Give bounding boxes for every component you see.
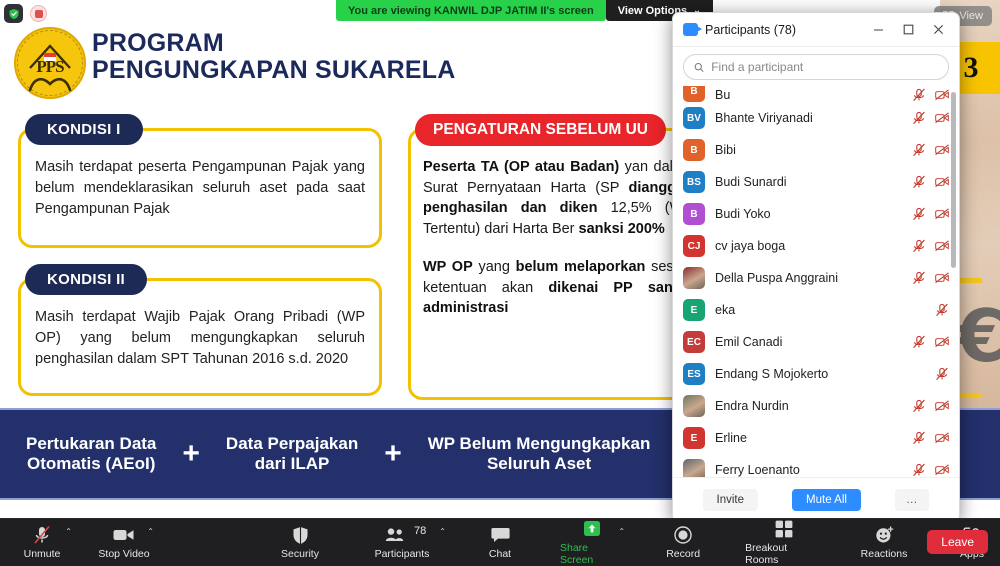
microphone-off-icon: [912, 463, 926, 477]
participants-window-title: Participants (78): [705, 23, 863, 37]
participant-status-icons: [912, 88, 949, 102]
pengaturan-text: Peserta TA (OP atau Badan) yan dalam Sur…: [411, 131, 705, 329]
search-box[interactable]: [683, 54, 949, 80]
band-item-3: WP Belum Mengungkapkan Seluruh Aset: [428, 434, 651, 475]
participant-row[interactable]: ECEmil Canadi: [673, 326, 959, 358]
participant-row[interactable]: BBudi Yoko: [673, 198, 959, 230]
avatar: BV: [683, 107, 705, 129]
participant-row[interactable]: Della Puspa Anggraini: [673, 262, 959, 294]
red-p1-f: sanksi 200%: [579, 221, 665, 237]
view-button-label: View: [959, 10, 983, 22]
shield-icon: [292, 525, 309, 545]
red-p2-a: WP OP: [423, 259, 473, 275]
band-item-3-line1: WP Belum Mengungkapkan: [428, 434, 651, 454]
participant-name: Erline: [715, 431, 902, 445]
participant-status-icons: [912, 111, 949, 125]
participant-name: Emil Canadi: [715, 335, 902, 349]
band-plus-2: +: [384, 437, 402, 471]
video-options-caret-icon[interactable]: ⌃: [147, 527, 154, 536]
red-p2-b: yang: [473, 259, 516, 275]
participant-status-icons: [935, 303, 949, 317]
pengaturan-paragraph-1: Peserta TA (OP atau Badan) yan dalam Sur…: [423, 157, 693, 239]
video-off-icon: [935, 88, 949, 102]
microphone-off-icon: [912, 399, 926, 413]
participant-status-icons: [912, 239, 949, 253]
logo-hands-icon: [28, 72, 72, 92]
avatar: BS: [683, 171, 705, 193]
record-icon: [674, 525, 692, 545]
participant-row[interactable]: BBu: [673, 86, 959, 102]
viewing-screen-label: You are viewing KANWIL DJP JATIM II's sc…: [336, 0, 606, 21]
search-icon: [694, 62, 704, 73]
video-off-icon: [935, 463, 949, 477]
encryption-shield-icon[interactable]: [4, 4, 23, 23]
participant-name: Endra Nurdin: [715, 399, 902, 413]
maximize-icon: [903, 24, 914, 35]
unmute-label: Unmute: [24, 548, 61, 560]
reactions-button[interactable]: Reactions: [856, 519, 912, 566]
stop-video-label: Stop Video: [98, 548, 149, 560]
microphone-off-icon: [912, 335, 926, 349]
share-screen-button[interactable]: Share Screen ⌃: [560, 519, 623, 566]
participant-name: eka: [715, 303, 925, 317]
microphone-off-icon: [912, 431, 926, 445]
share-screen-icon: [582, 519, 602, 539]
microphone-off-icon: [935, 367, 949, 381]
participant-row[interactable]: BSBudi Sunardi: [673, 166, 959, 198]
band-item-2-line2: dari ILAP: [226, 454, 358, 474]
microphone-off-icon: [912, 88, 926, 102]
red-p2-e: dikenai PP: [548, 280, 632, 296]
participant-row[interactable]: ESEndang S Mojokerto: [673, 358, 959, 390]
band-item-2: Data Perpajakan dari ILAP: [226, 434, 358, 475]
participant-name: Endang S Mojokerto: [715, 367, 925, 381]
kondisi-2-box: KONDISI II Masih terdapat Wajib Pajak Or…: [18, 278, 382, 396]
slide-title-line2: PENGUNGKAPAN SUKARELA: [92, 57, 455, 84]
participant-row[interactable]: CJcv jaya boga: [673, 230, 959, 262]
avatar: ES: [683, 363, 705, 385]
red-p1-a: Peserta TA (OP atau Badan): [423, 159, 619, 175]
video-off-icon: [935, 399, 949, 413]
avatar: E: [683, 427, 705, 449]
kondisi-1-tag: KONDISI I: [25, 114, 143, 145]
avatar: EC: [683, 331, 705, 353]
slide-title: PROGRAM PENGUNGKAPAN SUKARELA: [92, 30, 455, 84]
kondisi-1-text: Masih terdapat peserta Pengampunan Pajak…: [21, 131, 379, 232]
avatar: [683, 267, 705, 289]
participant-name: Ferry Loenanto: [715, 463, 902, 477]
microphone-off-icon: [912, 271, 926, 285]
microphone-off-icon: [33, 525, 51, 545]
minimize-button[interactable]: [863, 17, 893, 43]
invite-button[interactable]: Invite: [703, 489, 759, 511]
close-icon: [933, 24, 944, 35]
pengaturan-paragraph-2: WP OP yang belum melaporkan sesuai keten…: [423, 257, 693, 319]
participant-status-icons: [912, 463, 949, 477]
breakout-rooms-button[interactable]: Breakout Rooms: [745, 519, 822, 566]
reactions-label: Reactions: [861, 548, 908, 560]
share-options-caret-icon[interactable]: ⌃: [618, 527, 625, 536]
avatar: [683, 395, 705, 417]
more-options-button[interactable]: …: [895, 489, 930, 511]
microphone-off-icon: [912, 175, 926, 189]
breakout-rooms-icon: [775, 519, 793, 539]
avatar: B: [683, 139, 705, 161]
red-p1-b: yan: [619, 159, 648, 175]
zoom-meeting-window: € 3 PPS PROGRAM PENGUNGKAPAN SUKARELA KO…: [0, 0, 1000, 566]
participant-status-icons: [935, 367, 949, 381]
avatar: B: [683, 203, 705, 225]
participant-name: Budi Yoko: [715, 207, 902, 221]
video-off-icon: [935, 335, 949, 349]
red-p2-c: belum melaporkan: [516, 259, 646, 275]
participants-footer: Invite Mute All …: [673, 477, 959, 521]
participant-row[interactable]: BBibi: [673, 134, 959, 166]
kondisi-2-tag: KONDISI II: [25, 264, 147, 295]
participant-row[interactable]: Eeka: [673, 294, 959, 326]
microphone-off-icon: [935, 303, 949, 317]
avatar: [683, 459, 705, 477]
band-item-1: Pertukaran Data Otomatis (AEoI): [26, 434, 156, 475]
band-item-1-line2: Otomatis (AEoI): [26, 454, 156, 474]
participants-scrollbar[interactable]: [951, 92, 956, 268]
avatar: CJ: [683, 235, 705, 257]
screen-share-banner: You are viewing KANWIL DJP JATIM II's sc…: [336, 0, 713, 21]
maximize-button[interactable]: [893, 17, 923, 43]
microphone-off-icon: [912, 111, 926, 125]
participants-list[interactable]: BBuBVBhante ViriyanadiBBibiBSBudi Sunard…: [673, 86, 959, 477]
minimize-icon: [873, 24, 884, 35]
avatar: B: [683, 86, 705, 102]
chat-label: Chat: [489, 548, 511, 560]
reactions-icon: [875, 525, 894, 545]
band-item-3-line2: Seluruh Aset: [428, 454, 651, 474]
participant-status-icons: [912, 335, 949, 349]
participant-row[interactable]: EErline: [673, 422, 959, 454]
participant-name: Bibi: [715, 143, 902, 157]
microphone-off-icon: [912, 239, 926, 253]
participant-status-icons: [912, 431, 949, 445]
participant-status-icons: [912, 175, 949, 189]
participants-window: Participants (78) BBuBVBhante Viriyanadi: [672, 12, 960, 522]
breakout-rooms-label: Breakout Rooms: [745, 542, 822, 566]
band-item-2-line1: Data Perpajakan: [226, 434, 358, 454]
participant-name: Della Puspa Anggraini: [715, 271, 902, 285]
zoom-app-icon: [683, 23, 698, 36]
recording-indicator-icon[interactable]: [30, 5, 47, 22]
audio-options-caret-icon[interactable]: ⌃: [65, 527, 72, 536]
close-button[interactable]: [923, 17, 953, 43]
unmute-button[interactable]: Unmute ⌃: [14, 519, 70, 566]
chat-bubble-icon: [491, 525, 510, 545]
participants-count: 78: [414, 525, 426, 537]
pps-logo: PPS: [14, 27, 86, 99]
avatar: E: [683, 299, 705, 321]
participant-name: Bhante Viriyanadi: [715, 111, 902, 125]
video-off-icon: [935, 207, 949, 221]
zoom-toolbar: Unmute ⌃ Stop Video ⌃ Security: [0, 518, 1000, 566]
security-button[interactable]: Security: [272, 519, 328, 566]
leave-button[interactable]: Leave: [927, 530, 988, 554]
band-plus-1: +: [182, 437, 200, 471]
pengaturan-sebelum-uu-box: PENGATURAN SEBELUM UU Peserta TA (OP ata…: [408, 128, 708, 400]
participants-search-wrap: [673, 47, 959, 86]
microphone-off-icon: [912, 143, 926, 157]
participant-status-icons: [912, 143, 949, 157]
participant-row[interactable]: Endra Nurdin: [673, 390, 959, 422]
video-off-icon: [935, 175, 949, 189]
participant-row[interactable]: Ferry Loenanto: [673, 454, 959, 477]
participant-row[interactable]: BVBhante Viriyanadi: [673, 102, 959, 134]
participant-status-icons: [912, 399, 949, 413]
slide-title-line1: PROGRAM: [92, 29, 224, 57]
share-screen-label: Share Screen: [560, 542, 623, 566]
participant-status-icons: [912, 271, 949, 285]
participants-options-caret-icon[interactable]: ⌃: [439, 527, 446, 536]
participant-name: Bu: [715, 88, 902, 102]
participants-label: Participants: [375, 548, 430, 560]
security-label: Security: [281, 548, 319, 560]
video-off-icon: [935, 431, 949, 445]
participant-status-icons: [912, 207, 949, 221]
video-camera-icon: [113, 525, 135, 545]
kondisi-2-text: Masih terdapat Wajib Pajak Orang Pribadi…: [21, 281, 379, 382]
pengaturan-tag: PENGATURAN SEBELUM UU: [415, 114, 666, 146]
participant-name: cv jaya boga: [715, 239, 902, 253]
video-off-icon: [935, 271, 949, 285]
video-off-icon: [935, 239, 949, 253]
record-button[interactable]: Record: [655, 519, 711, 566]
participants-titlebar: Participants (78): [673, 13, 959, 47]
kondisi-1-box: KONDISI I Masih terdapat peserta Pengamp…: [18, 128, 382, 248]
microphone-off-icon: [912, 207, 926, 221]
participants-button[interactable]: Participants 78 ⌃: [374, 519, 430, 566]
chat-button[interactable]: Chat: [472, 519, 528, 566]
search-input[interactable]: [711, 60, 938, 74]
mute-all-button[interactable]: Mute All: [792, 489, 861, 511]
stop-video-button[interactable]: Stop Video ⌃: [96, 519, 152, 566]
band-item-1-line1: Pertukaran Data: [26, 434, 156, 454]
participant-name: Budi Sunardi: [715, 175, 902, 189]
record-label: Record: [666, 548, 700, 560]
video-off-icon: [935, 111, 949, 125]
video-off-icon: [935, 143, 949, 157]
